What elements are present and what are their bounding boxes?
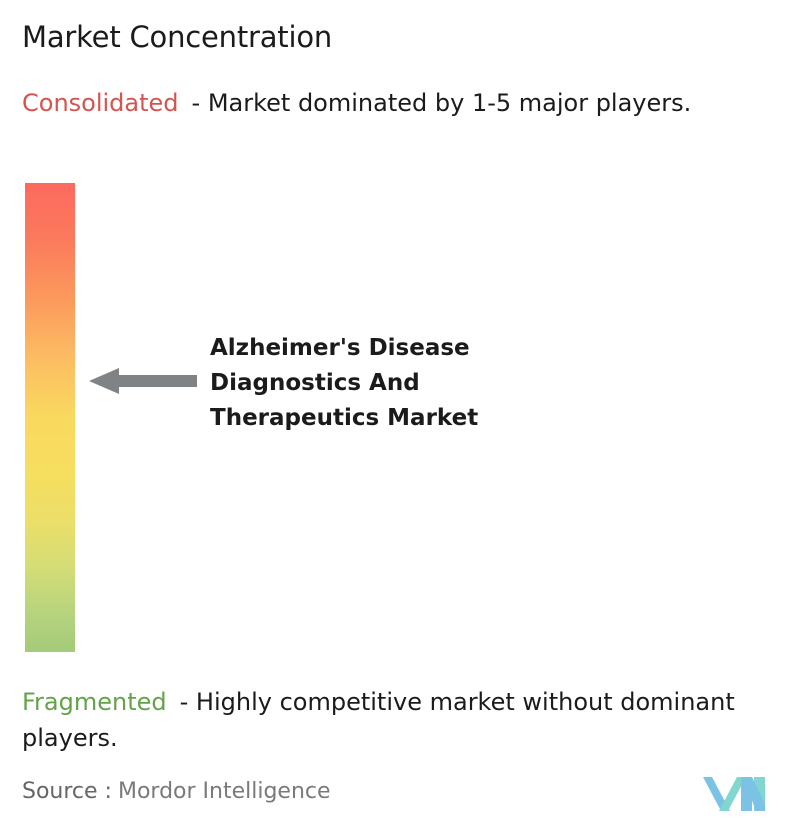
left-arrow-icon <box>89 367 197 395</box>
market-name-line-2: Diagnostics And <box>210 366 590 401</box>
market-name-label: Alzheimer's Disease Diagnostics And Ther… <box>210 331 590 436</box>
market-name-line-3: Therapeutics Market <box>210 401 590 436</box>
source-label: Source : <box>22 779 112 804</box>
source-value: Mordor Intelligence <box>118 779 331 804</box>
legend-consolidated: Consolidated- Market dominated by 1-5 ma… <box>22 85 767 121</box>
source-attribution: Source :Mordor Intelligence <box>22 779 331 804</box>
legend-key-fragmented: Fragmented <box>22 688 167 716</box>
page-title: Market Concentration <box>22 20 332 55</box>
market-concentration-infographic: Market Concentration Consolidated- Marke… <box>0 0 796 834</box>
concentration-gradient-bar <box>25 183 75 652</box>
market-name-line-1: Alzheimer's Disease <box>210 331 590 366</box>
legend-fragmented: Fragmented- Highly competitive market wi… <box>22 684 782 756</box>
legend-key-consolidated: Consolidated <box>22 89 179 117</box>
mordor-intelligence-logo-icon <box>703 771 765 815</box>
legend-description-consolidated: - Market dominated by 1-5 major players. <box>192 89 692 117</box>
